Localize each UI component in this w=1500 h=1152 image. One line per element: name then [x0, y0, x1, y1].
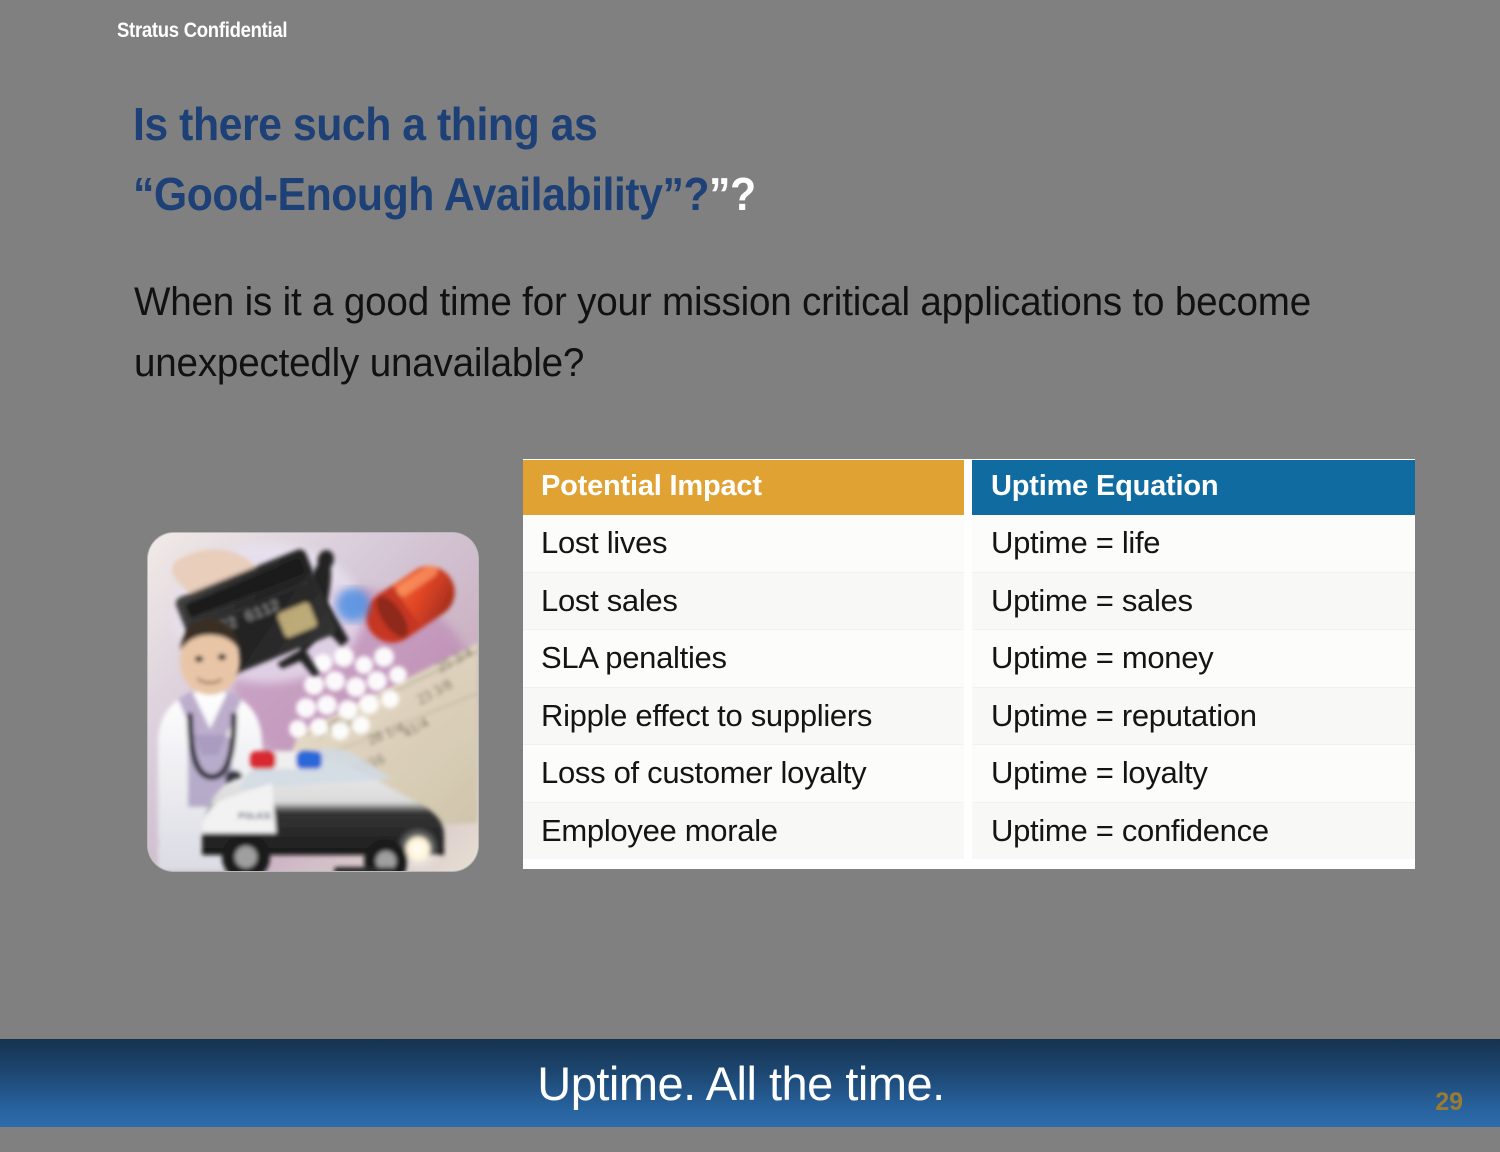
page-title: Is there such a thing as “Good-Enough Av…	[133, 90, 1233, 230]
cell-equation: Uptime = money	[968, 630, 1415, 688]
cell-impact: Ripple effect to suppliers	[523, 687, 968, 745]
page-title-line-2: “Good-Enough Availability”?”?	[133, 160, 1156, 230]
cell-equation: Uptime = reputation	[968, 687, 1415, 745]
table-row: Loss of customer loyalty Uptime = loyalt…	[523, 745, 1415, 803]
table-row: Employee morale Uptime = confidence	[523, 802, 1415, 859]
cell-equation: Uptime = sales	[968, 572, 1415, 630]
cell-equation: Uptime = confidence	[968, 802, 1415, 859]
page-number: 29	[1435, 1088, 1463, 1117]
impact-equation-table: Potential Impact Uptime Equation Lost li…	[523, 459, 1415, 869]
table-row: Ripple effect to suppliers Uptime = repu…	[523, 687, 1415, 745]
cell-equation: Uptime = life	[968, 515, 1415, 572]
page-title-stray-quote-mark: ”?	[709, 168, 756, 220]
impact-table-element: Potential Impact Uptime Equation Lost li…	[523, 460, 1415, 859]
cell-impact: Lost lives	[523, 515, 968, 572]
table-header: Potential Impact Uptime Equation	[523, 460, 1415, 515]
confidential-label: Stratus Confidential	[117, 19, 287, 43]
table-row: Lost sales Uptime = sales	[523, 572, 1415, 630]
collage-illustration: 25 3/4 23 3/8 41/4 28 1/4 3 15/16 41/16 …	[148, 533, 478, 871]
page-title-line-2-text: “Good-Enough Availability”?	[133, 168, 709, 220]
table-header-uptime-equation: Uptime Equation	[968, 460, 1415, 515]
cell-equation: Uptime = loyalty	[968, 745, 1415, 803]
table-header-row: Potential Impact Uptime Equation	[523, 460, 1415, 515]
mission-critical-collage-image: 25 3/4 23 3/8 41/4 28 1/4 3 15/16 41/16 …	[148, 533, 478, 871]
cell-impact: Lost sales	[523, 572, 968, 630]
table-row: SLA penalties Uptime = money	[523, 630, 1415, 688]
table-header-potential-impact: Potential Impact	[523, 460, 968, 515]
footer-tagline: Uptime. All the time.	[0, 1039, 1500, 1127]
footer-bar: Uptime. All the time. 29	[0, 1039, 1500, 1127]
table-body: Lost lives Uptime = life Lost sales Upti…	[523, 515, 1415, 859]
subtitle-question: When is it a good time for your mission …	[134, 272, 1408, 394]
cell-impact: Employee morale	[523, 802, 968, 859]
cell-impact: Loss of customer loyalty	[523, 745, 968, 803]
cell-impact: SLA penalties	[523, 630, 968, 688]
table-row: Lost lives Uptime = life	[523, 515, 1415, 572]
page-title-line-1: Is there such a thing as	[133, 90, 1156, 160]
